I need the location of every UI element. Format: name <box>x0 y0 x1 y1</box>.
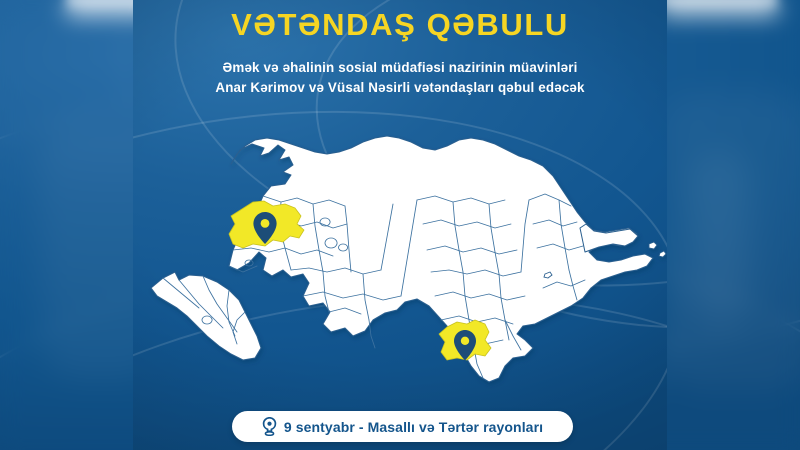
poster-headline: VƏTƏNDAŞ QƏBULU <box>133 9 667 42</box>
footer-info-pill[interactable]: 9 sentyabr - Masallı və Tərtər rayonları <box>232 411 573 442</box>
poster-canvas: VƏTƏNDAŞ QƏBULU Əmək və əhalinin sosial … <box>0 0 800 450</box>
azerbaijan-map <box>133 120 667 400</box>
poster-panel: VƏTƏNDAŞ QƏBULU Əmək və əhalinin sosial … <box>133 0 667 450</box>
subtitle-line-1: Əmək və əhalinin sosial müdafiəsi naziri… <box>151 58 649 78</box>
map-islet-1 <box>649 242 657 249</box>
map-mainland <box>229 136 653 382</box>
location-pin-icon <box>262 417 277 436</box>
poster-subtitle: Əmək və əhalinin sosial müdafiəsi naziri… <box>151 58 649 99</box>
map-islet-2 <box>659 251 666 257</box>
footer-info-text: 9 sentyabr - Masallı və Tərtər rayonları <box>284 419 543 435</box>
azerbaijan-map-svg <box>133 120 667 400</box>
map-landmass-group <box>151 136 666 382</box>
subtitle-line-2: Anar Kərimov və Vüsal Nəsirli vətəndaşla… <box>151 78 649 98</box>
